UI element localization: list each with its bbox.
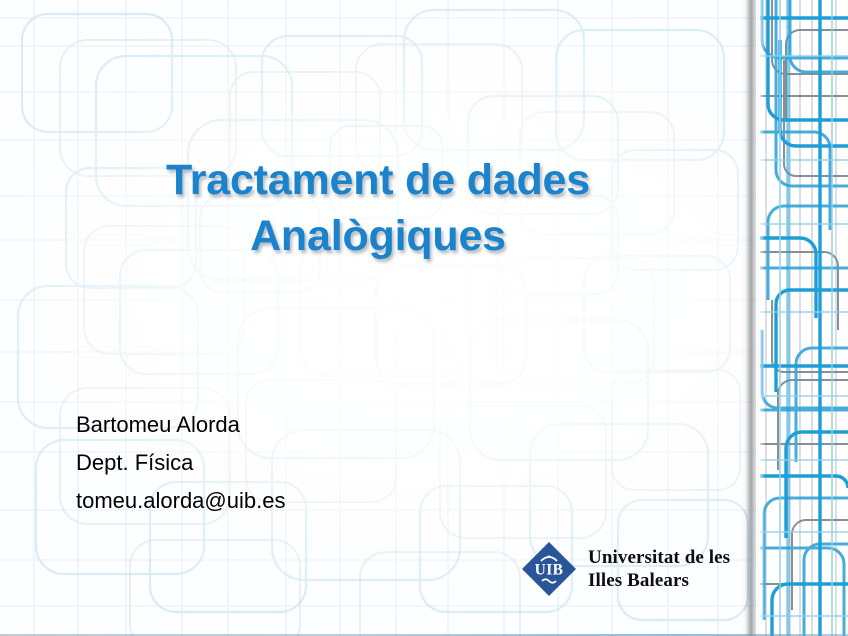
author-email: tomeu.alorda@uib.es (76, 482, 285, 520)
author-block: Bartomeu Alorda Dept. Física tomeu.alord… (76, 406, 285, 520)
band-separator-shadow (742, 0, 762, 636)
title-line-2: Analògiques (60, 208, 696, 264)
uib-name-line-1: Universitat de les (588, 546, 730, 569)
author-name: Bartomeu Alorda (76, 406, 285, 444)
title-slide: Tractament de dades Analògiques Bartomeu… (0, 0, 848, 636)
page-title: Tractament de dades Analògiques (60, 152, 696, 264)
uib-logo: UIB Universitat de les Illes Balears (520, 540, 730, 598)
uib-logo-text: Universitat de les Illes Balears (588, 546, 730, 592)
band-separator-highlight (756, 0, 764, 636)
author-department: Dept. Física (76, 444, 285, 482)
uib-name-line-2: Illes Balears (588, 569, 730, 592)
uib-diamond-icon: UIB (520, 540, 578, 598)
svg-text:UIB: UIB (535, 562, 564, 579)
title-line-1: Tractament de dades (60, 152, 696, 208)
